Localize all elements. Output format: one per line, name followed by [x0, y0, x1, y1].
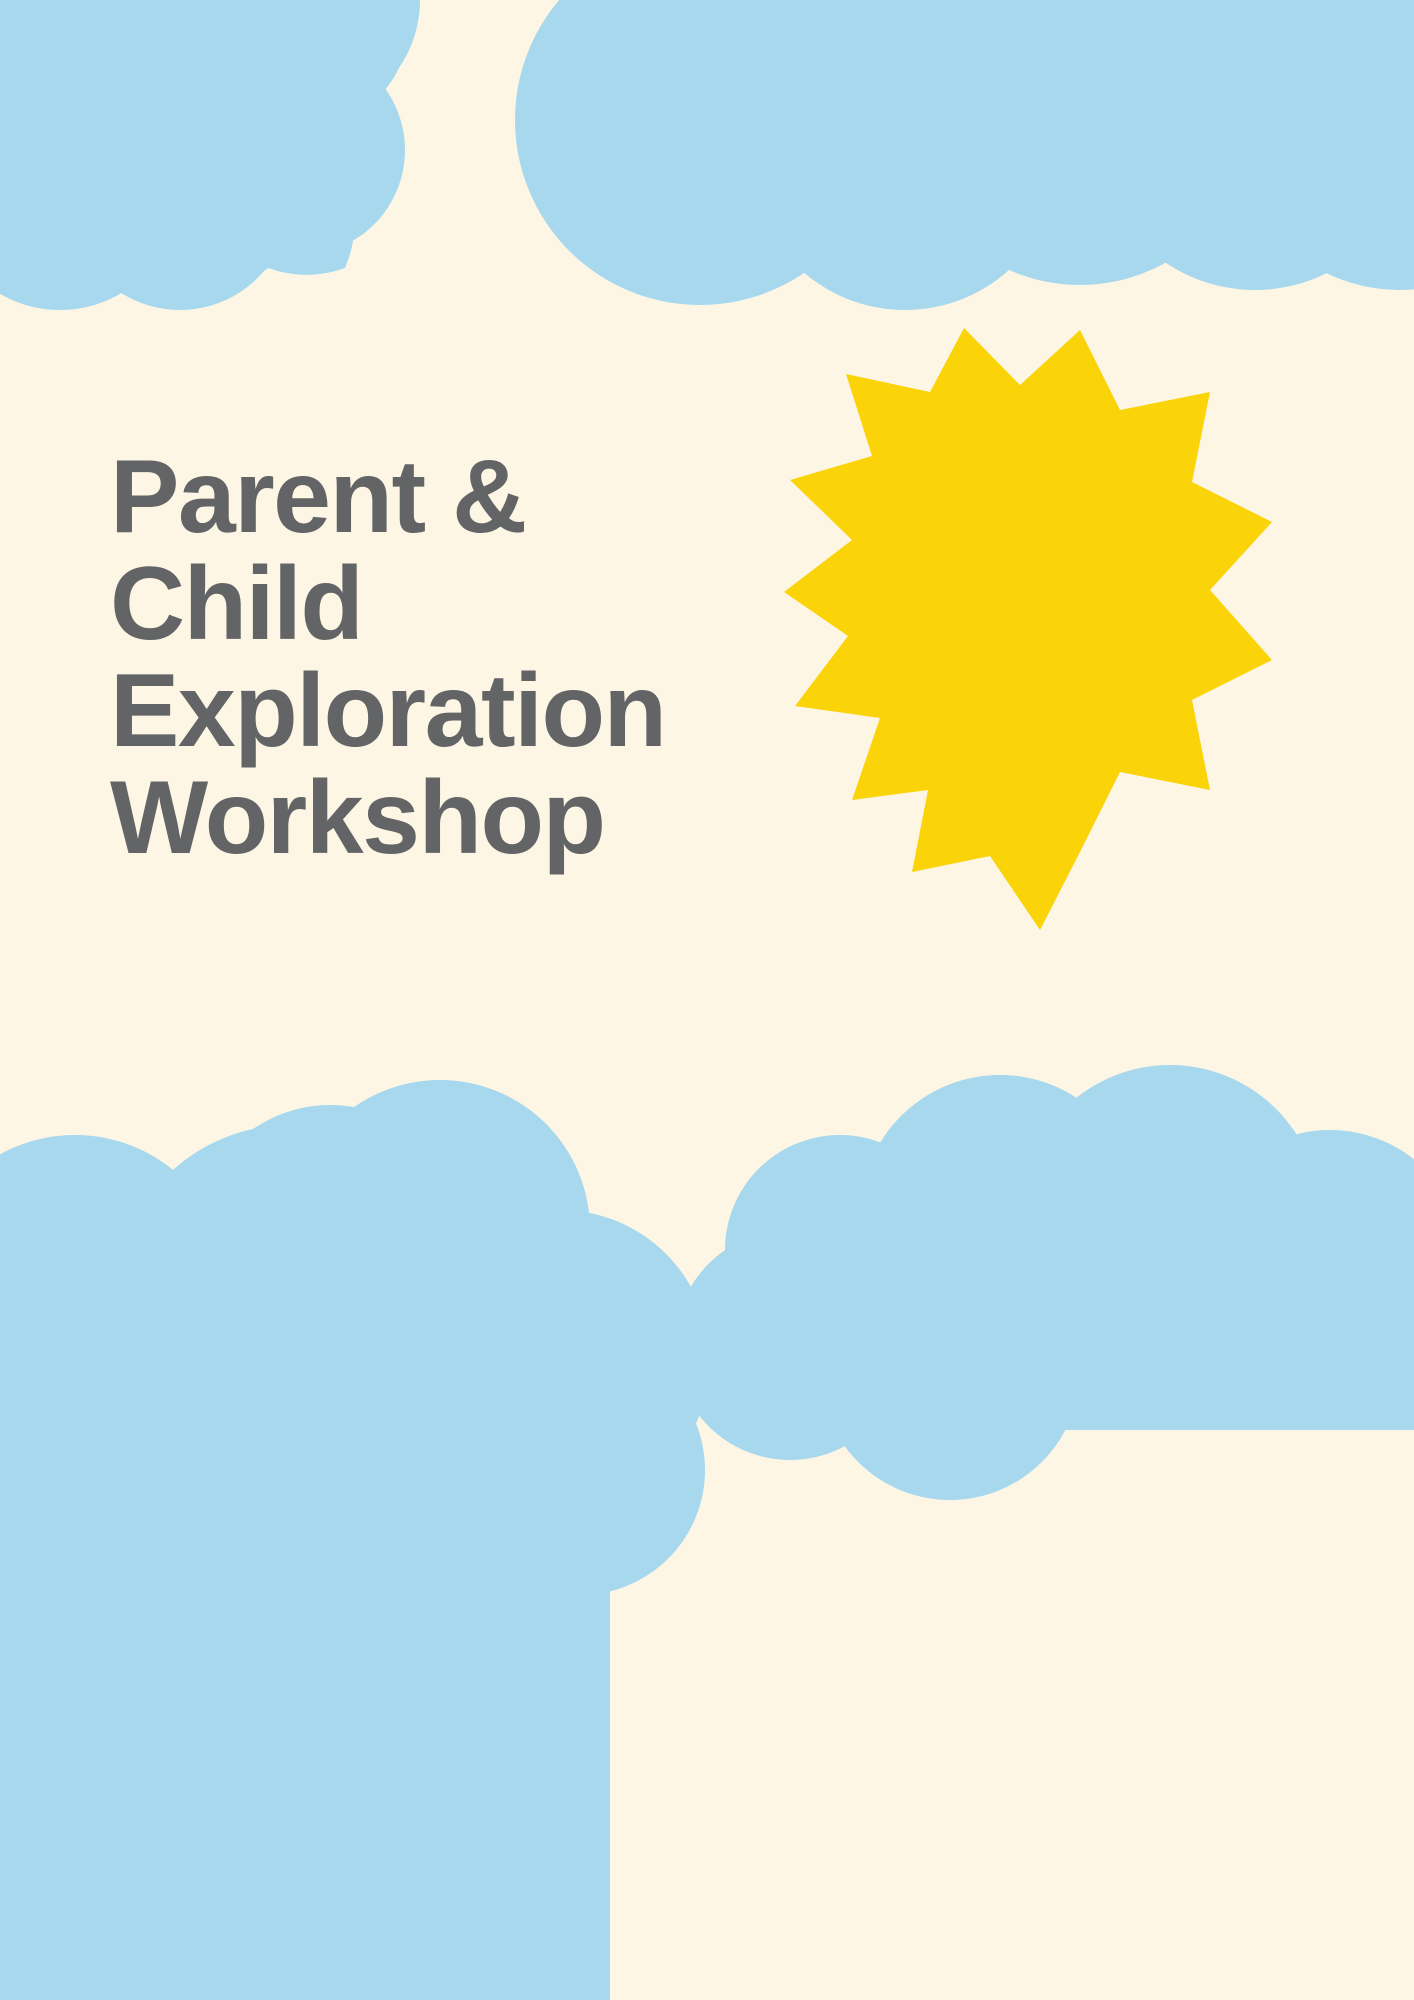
- title-line-4: Workshop: [110, 765, 810, 872]
- title-line-3: Exploration: [110, 658, 810, 765]
- poster-background: [0, 0, 1414, 2000]
- poster-canvas: Parent & Child Exploration Workshop: [0, 0, 1414, 2000]
- title-line-1: Parent &: [110, 444, 810, 551]
- poster-title: Parent & Child Exploration Workshop: [110, 444, 810, 872]
- title-line-2: Child: [110, 551, 810, 658]
